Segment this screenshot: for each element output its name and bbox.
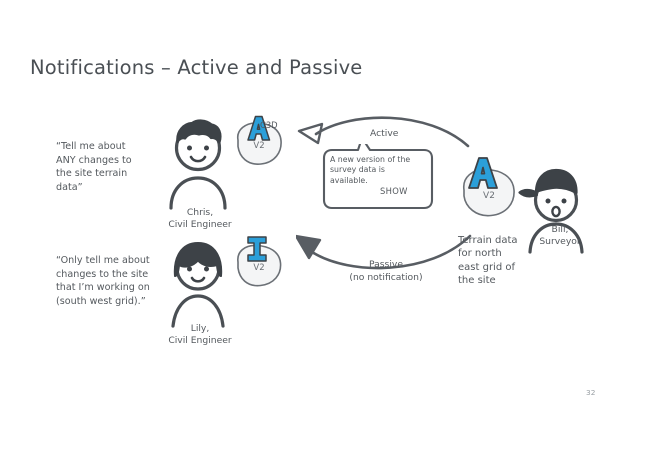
page-title: Notifications – Active and Passive xyxy=(30,56,363,79)
persona-label-chris: Chris, Civil Engineer xyxy=(150,207,250,231)
page-number: 32 xyxy=(586,388,595,397)
app-logo-caption-c3d: C3D xyxy=(260,120,278,130)
avatar-lily xyxy=(162,232,234,332)
version-label-bill: V2 xyxy=(483,191,495,201)
persona-label-bill: Bill, Surveyor xyxy=(520,224,600,248)
notification-message: A new version of the survey data is avai… xyxy=(330,155,426,186)
avatar-chris xyxy=(162,114,234,214)
quote-chris: “Tell me about ANY changes to the site t… xyxy=(56,140,176,194)
flow-label-active: Active xyxy=(370,128,398,139)
version-label-chris: V2 xyxy=(253,141,264,151)
persona-label-lily: Lily, Civil Engineer xyxy=(150,323,250,347)
slide-canvas: Notifications – Active and Passive “Tell… xyxy=(0,0,658,464)
version-label-lily: V2 xyxy=(253,263,264,273)
app-logo-lily: V2 xyxy=(228,232,290,302)
notification-show-button[interactable]: SHOW xyxy=(380,186,408,196)
flow-label-passive: Passive (no notification) xyxy=(326,259,446,284)
app-logo-chris: V2 xyxy=(228,112,290,182)
